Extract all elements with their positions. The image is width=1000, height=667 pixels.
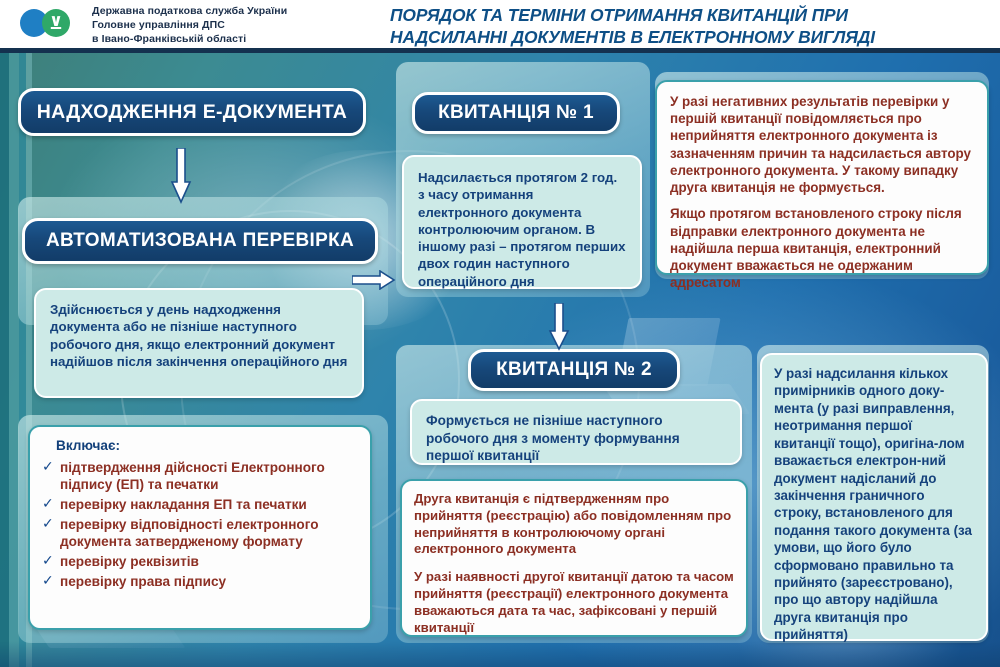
negative-result-details: У разі негативних результатів перевірки … <box>655 80 989 275</box>
list-item: ✓ перевірку реквізитів <box>42 553 358 570</box>
includes-checklist: Включає: ✓ підтвердження дійсності Елект… <box>28 425 372 630</box>
negative-result-paragraph-1: У разі негативних результатів перевірки … <box>670 93 974 196</box>
check-icon: ✓ <box>42 515 54 533</box>
list-item: ✓ перевірку накладання ЕП та печатки <box>42 496 358 513</box>
automated-check-description: Здійснюється у день надходження документ… <box>34 288 364 398</box>
check-icon: ✓ <box>42 458 54 476</box>
org-line-1: Державна податкова служба України <box>92 5 352 19</box>
trident-glyph: ⊻ <box>49 15 63 32</box>
receipt-2-heading: КВИТАНЦІЯ № 2 <box>468 349 680 391</box>
second-receipt-details: Друга квитанція є підтвердженням про при… <box>400 479 748 637</box>
list-item-label: перевірку права підпису <box>60 574 226 589</box>
bottom-shadow <box>0 641 1000 667</box>
step-automated-check: АВТОМАТИЗОВАНА ПЕРЕВІРКА <box>22 218 378 264</box>
organization-name: Державна податкова служба України Головн… <box>92 5 352 47</box>
dps-logo: ⊻ <box>20 8 84 38</box>
org-line-3: в Івано-Франківській області <box>92 33 352 47</box>
step-document-received: НАДХОДЖЕННЯ Е-ДОКУМЕНТА <box>18 88 366 136</box>
list-item: ✓ перевірку права підпису <box>42 573 358 590</box>
list-item: ✓ перевірку відповідності електронного д… <box>42 516 358 551</box>
page-title-line-2: НАДСИЛАННІ ДОКУМЕНТІВ В ЕЛЕКТРОННОМУ ВИГ… <box>390 27 990 49</box>
header-divider <box>0 48 1000 53</box>
list-item-label: перевірку реквізитів <box>60 554 199 569</box>
second-receipt-paragraph-1: Друга квитанція є підтвердженням про при… <box>414 491 734 558</box>
arrow-down-icon <box>170 148 192 209</box>
arrow-right-icon <box>352 270 396 295</box>
check-icon: ✓ <box>42 572 54 590</box>
negative-result-paragraph-2: Якщо протягом встановленого строку після… <box>670 205 974 291</box>
edge-stripe <box>0 53 9 667</box>
logo-green-trident-icon: ⊻ <box>42 9 70 37</box>
arrow-down-icon <box>548 303 570 356</box>
receipt-1-heading: КВИТАНЦІЯ № 1 <box>412 92 620 134</box>
check-icon: ✓ <box>42 495 54 513</box>
infographic-poster: ⊻ Державна податкова служба України Голо… <box>0 0 1000 667</box>
list-item-label: підтвердження дійсності Електронного під… <box>60 460 325 492</box>
list-item-label: перевірку відповідності електронного док… <box>60 517 319 549</box>
list-item-label: перевірку накладання ЕП та печатки <box>60 497 307 512</box>
second-receipt-paragraph-2: У разі наявності другої квитанції датою … <box>414 569 734 636</box>
receipt-1-timing: Надсилається протягом 2 год. з часу отри… <box>402 155 642 289</box>
multiple-copies-details: У разі надсилання кількох примірників од… <box>760 353 988 641</box>
org-line-2: Головне управління ДПС <box>92 19 352 33</box>
check-icon: ✓ <box>42 552 54 570</box>
page-title: ПОРЯДОК ТА ТЕРМІНИ ОТРИМАННЯ КВИТАНЦІЙ П… <box>390 5 990 48</box>
includes-title: Включає: <box>56 437 358 455</box>
page-title-line-1: ПОРЯДОК ТА ТЕРМІНИ ОТРИМАННЯ КВИТАНЦІЙ П… <box>390 5 990 27</box>
list-item: ✓ підтвердження дійсності Електронного п… <box>42 459 358 494</box>
includes-list: ✓ підтвердження дійсності Електронного п… <box>42 459 358 591</box>
receipt-2-timing: Формується не пізніше наступного робочог… <box>410 399 742 465</box>
page-header: ⊻ Державна податкова служба України Голо… <box>0 0 1000 48</box>
